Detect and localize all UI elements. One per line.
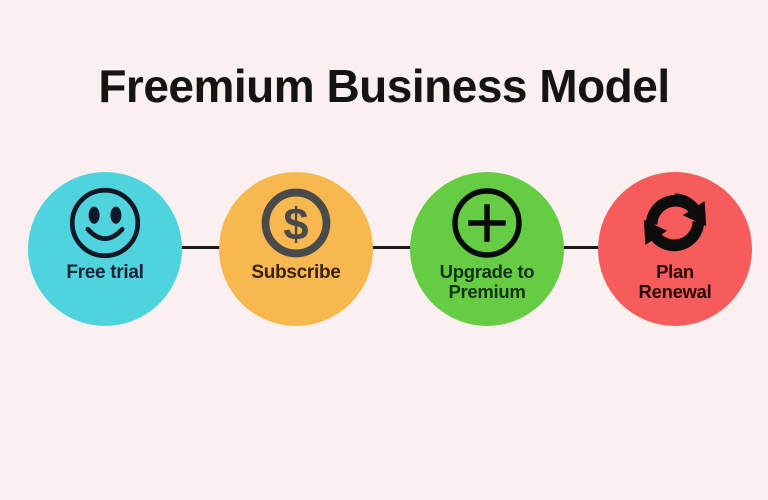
connector-line-2 bbox=[369, 246, 413, 249]
flow-step-free-trial[interactable]: Free trial bbox=[28, 172, 182, 326]
process-flow: Free trial $ Subscribe Upgrade to Premiu… bbox=[0, 172, 768, 326]
flow-step-upgrade-to-premium[interactable]: Upgrade to Premium bbox=[410, 172, 564, 326]
flow-step-label: Upgrade to Premium bbox=[434, 262, 541, 302]
connector-line-1 bbox=[178, 246, 222, 249]
smiley-face-icon bbox=[66, 184, 144, 262]
flow-step-subscribe[interactable]: $ Subscribe bbox=[219, 172, 373, 326]
flow-step-label: Subscribe bbox=[245, 263, 346, 283]
page-title: Freemium Business Model bbox=[0, 63, 768, 109]
infographic-canvas: Freemium Business Model Free trial $ Sub… bbox=[0, 0, 768, 500]
svg-text:$: $ bbox=[283, 198, 308, 249]
refresh-cycle-icon bbox=[636, 184, 714, 262]
flow-step-label: Plan Renewal bbox=[633, 262, 718, 302]
flow-step-plan-renewal[interactable]: Plan Renewal bbox=[598, 172, 752, 326]
flow-step-label: Free trial bbox=[60, 263, 149, 283]
connector-line-3 bbox=[559, 246, 603, 249]
plus-circle-icon bbox=[448, 184, 526, 262]
dollar-coin-icon: $ bbox=[257, 184, 335, 262]
